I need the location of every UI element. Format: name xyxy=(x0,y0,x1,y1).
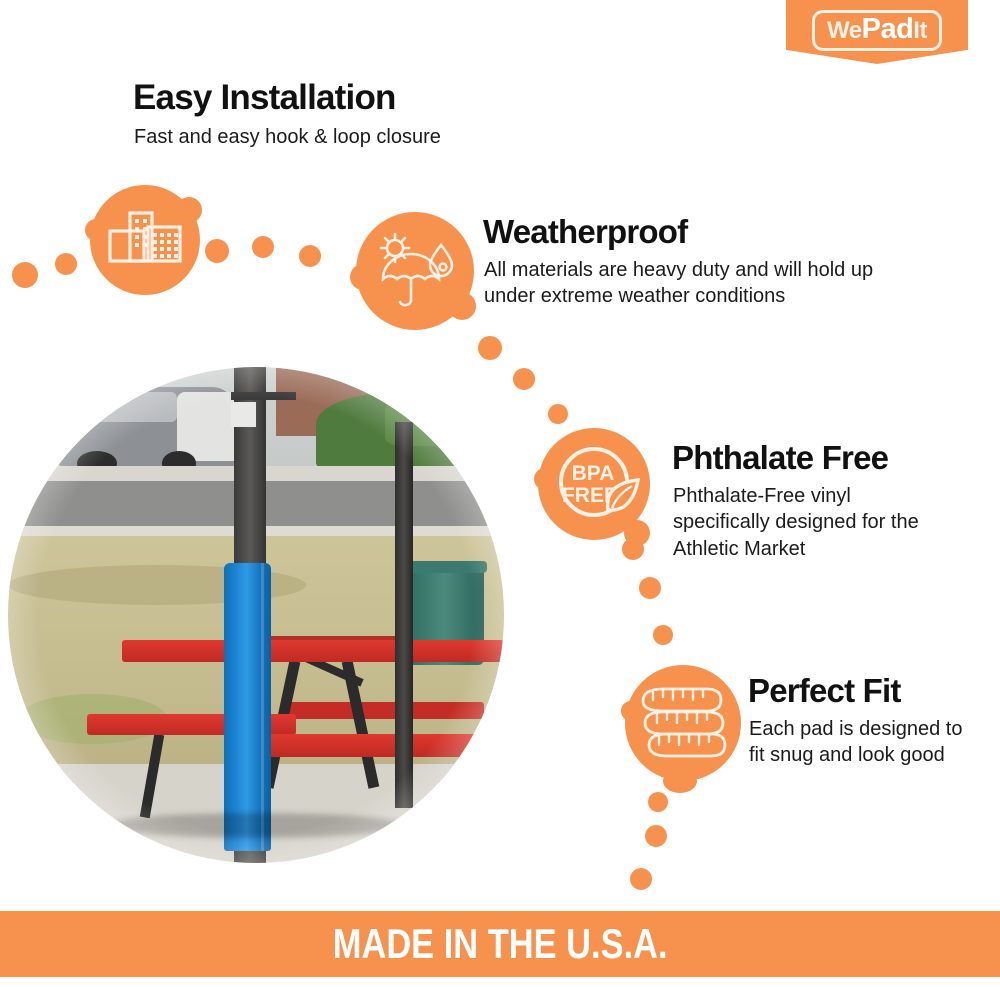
logo-text-it: It xyxy=(913,19,927,43)
feature-title-easy-installation: Easy Installation xyxy=(133,78,396,118)
building-installation-icon xyxy=(90,185,200,295)
trail-dot xyxy=(639,577,661,599)
trail-dot xyxy=(205,239,229,263)
feature-title-weatherproof: Weatherproof xyxy=(483,213,687,251)
weatherproof-glyph xyxy=(373,231,457,311)
trail-dot xyxy=(12,262,38,288)
trail-dot xyxy=(653,625,673,645)
blob-bump xyxy=(176,197,202,223)
feature-description-perfect-fit: Each pad is designed to fit snug and loo… xyxy=(749,716,974,769)
measuring-tape-glyph xyxy=(637,679,729,767)
trail-dot xyxy=(630,868,652,890)
feature-description-easy-installation: Fast and easy hook & loop closure xyxy=(134,124,554,150)
trail-dot xyxy=(55,253,77,275)
blob-bump xyxy=(663,769,697,793)
blob-bump xyxy=(350,264,376,290)
feature-description-weatherproof: All materials are heavy duty and will ho… xyxy=(484,257,884,310)
blob-bump xyxy=(85,219,107,241)
trail-dot xyxy=(648,792,668,812)
trail-dot xyxy=(299,245,321,267)
trail-dot xyxy=(622,538,644,560)
blob-bump xyxy=(448,292,476,320)
logo-text-pad: Pad xyxy=(862,15,914,44)
bpa-icon-text-line1: BPA xyxy=(572,462,615,485)
brand-logo-banner: We Pad It xyxy=(786,0,968,64)
feature-title-phthalate-free: Phthalate Free xyxy=(672,439,888,477)
feature-description-phthalate-free: Phthalate-Free vinyl specifically design… xyxy=(673,483,933,562)
made-in-usa-text: MADE IN THE U.S.A. xyxy=(333,920,668,968)
trail-dot xyxy=(478,336,502,360)
bpa-free-leaf-icon: BPA FREE xyxy=(538,428,650,540)
trail-dot xyxy=(252,236,274,258)
photo-vignette xyxy=(8,367,504,863)
made-in-usa-banner: MADE IN THE U.S.A. xyxy=(0,911,1000,977)
blob-bump xyxy=(621,701,641,721)
product-photo xyxy=(8,367,504,863)
bpa-free-glyph: BPA FREE xyxy=(546,436,642,532)
measuring-tape-icon xyxy=(625,665,741,781)
blob-bump xyxy=(534,468,556,490)
trail-dot xyxy=(513,368,535,390)
trail-dot xyxy=(645,825,667,847)
product-infographic: We Pad It Easy Installation Fast and eas… xyxy=(0,0,1000,987)
trail-dot xyxy=(548,404,568,424)
brand-logo-box: We Pad It xyxy=(812,10,942,51)
logo-text-we: We xyxy=(827,19,862,43)
feature-title-perfect-fit: Perfect Fit xyxy=(748,672,901,710)
building-installation-glyph xyxy=(108,209,182,271)
sun-umbrella-raindrop-icon xyxy=(356,212,474,330)
